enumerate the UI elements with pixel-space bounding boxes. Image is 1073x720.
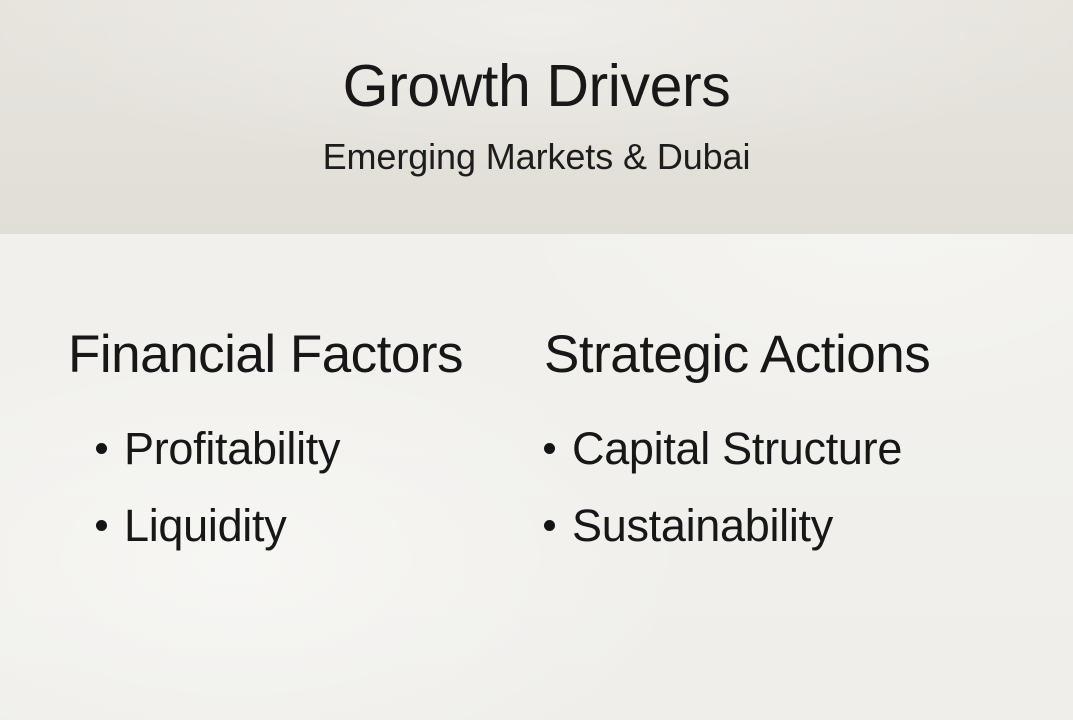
- column-heading-strategic-actions: Strategic Actions: [544, 328, 1073, 381]
- page-title: Growth Drivers: [343, 57, 731, 116]
- bullet-dot-icon: [544, 520, 555, 531]
- column-financial-factors: Financial Factors Profitability Liquidit…: [0, 234, 522, 548]
- bullet-dot-icon: [96, 520, 107, 531]
- column-strategic-actions: Strategic Actions Capital Structure Sust…: [522, 234, 1073, 548]
- bullet-dot-icon: [544, 443, 555, 454]
- slide-header: Growth Drivers Emerging Markets & Dubai: [0, 0, 1073, 234]
- list-item: Capital Structure: [544, 426, 1073, 471]
- list-item-label: Profitability: [124, 426, 340, 471]
- page-subtitle: Emerging Markets & Dubai: [323, 139, 751, 175]
- column-heading-financial-factors: Financial Factors: [68, 328, 522, 381]
- bullet-list-financial-factors: Profitability Liquidity: [68, 426, 522, 548]
- list-item-label: Sustainability: [572, 503, 833, 548]
- list-item: Liquidity: [68, 503, 522, 548]
- slide: Growth Drivers Emerging Markets & Dubai …: [0, 0, 1073, 720]
- slide-body: Financial Factors Profitability Liquidit…: [0, 234, 1073, 720]
- list-item: Profitability: [68, 426, 522, 471]
- list-item-label: Capital Structure: [572, 426, 902, 471]
- list-item: Sustainability: [544, 503, 1073, 548]
- list-item-label: Liquidity: [124, 503, 286, 548]
- bullet-dot-icon: [96, 443, 107, 454]
- bullet-list-strategic-actions: Capital Structure Sustainability: [544, 426, 1073, 548]
